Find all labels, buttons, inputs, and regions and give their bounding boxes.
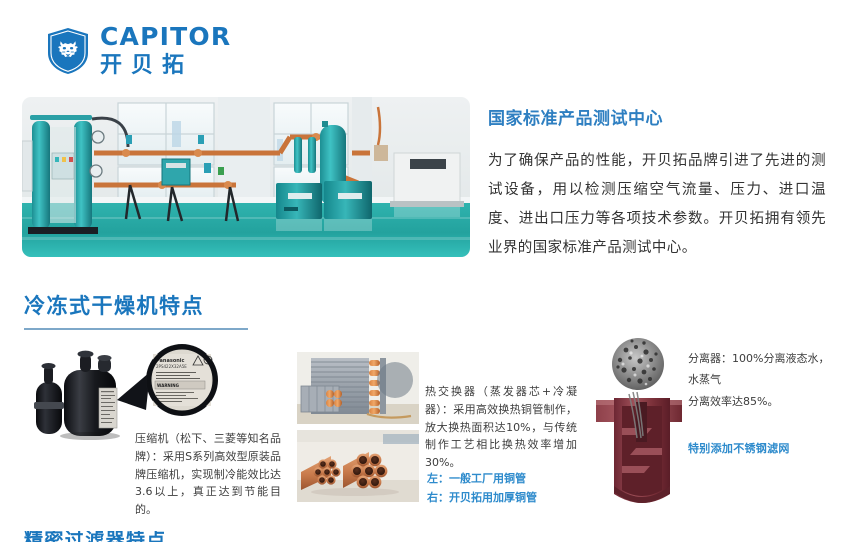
hero-title: 国家标准产品测试中心: [488, 104, 826, 129]
separator-line-2: 水蒸气: [688, 369, 850, 390]
svg-text:2PS422X32A5E: 2PS422X32A5E: [156, 364, 187, 369]
svg-text:WARNING: WARNING: [157, 383, 179, 388]
separator-note: 特别添加不锈钢滤网: [688, 440, 850, 456]
heat-exchanger-photo: [297, 352, 419, 424]
hero-text-block: 国家标准产品测试中心 为了确保产品的性能，开贝拓品牌引进了先进的测试设备，用以检…: [488, 104, 826, 263]
brand-wordmark: CAPITOR 开贝拓: [100, 24, 231, 77]
section-header: 冷冻式干燥机特点: [24, 290, 254, 330]
separator-line-3: 分离效率达85%。: [688, 391, 850, 412]
tube-caption-right: 右：开贝拓用加厚铜管: [427, 489, 587, 508]
brand-header: CAPITOR 开贝拓: [47, 24, 231, 77]
separator-diagram: [596, 336, 692, 516]
brand-name-cn: 开贝拓: [100, 55, 231, 77]
hero-paragraph: 为了确保产品的性能，开贝拓品牌引进了先进的测试设备，用以检测压缩空气流量、压力、…: [488, 147, 826, 263]
test-center-photo: [22, 97, 470, 257]
separator-description: 分离器：100%分离液态水， 水蒸气 分离效率达85%。: [688, 348, 850, 412]
shield-lion-icon: [47, 27, 89, 75]
compressor-description: 压缩机（松下、三菱等知名品牌）：采用S系列高效型原装品牌压缩机，实现制冷能效比达…: [135, 430, 281, 519]
tube-comparison-caption: 左：一般工厂用铜管 右：开贝拓用加厚铜管: [427, 470, 587, 508]
copper-tube-photo: [297, 430, 419, 502]
next-section-title-partial: 精密过滤器特点: [24, 531, 284, 542]
brand-name-en: CAPITOR: [100, 24, 231, 49]
tube-caption-left: 左：一般工厂用铜管: [427, 470, 587, 489]
page-root: CAPITOR 开贝拓: [0, 0, 850, 542]
next-section-title-text: 精密过滤器特点: [24, 531, 284, 542]
heat-exchanger-description: 热交换器（蒸发器芯+冷凝器）：采用高效换热铜管制作，放大换热面积达10%，与传统…: [425, 383, 577, 472]
section-divider: [24, 328, 248, 330]
section-title: 冷冻式干燥机特点: [24, 290, 254, 320]
separator-line-1: 分离器：100%分离液态水，: [688, 348, 850, 369]
